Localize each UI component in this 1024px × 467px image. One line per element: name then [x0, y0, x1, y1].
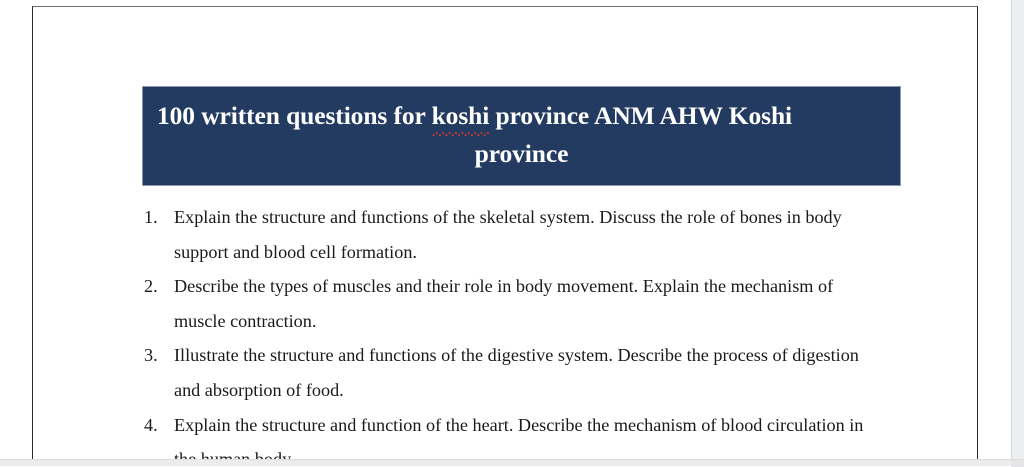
question-list: 1. Explain the structure and functions o…	[144, 200, 904, 459]
list-item-text: Explain the structure and function of th…	[174, 408, 886, 459]
misspelled-word-koshi[interactable]: koshi	[432, 97, 490, 135]
list-item[interactable]: 1. Explain the structure and functions o…	[144, 200, 904, 269]
document-page: 100 written questions for koshi province…	[32, 6, 978, 459]
window-bottom-bar	[0, 459, 1024, 466]
list-item-number: 3.	[144, 338, 174, 373]
list-item-number: 1.	[144, 200, 174, 235]
list-item[interactable]: 2. Describe the types of muscles and the…	[144, 269, 904, 338]
list-item-text: Illustrate the structure and functions o…	[174, 338, 886, 407]
list-item-number: 4.	[144, 408, 174, 443]
list-item[interactable]: 4. Explain the structure and function of…	[144, 408, 904, 459]
title-prefix-text: 100 written questions for	[157, 101, 432, 130]
document-title-line-2: province	[157, 135, 886, 173]
document-title-line-1: 100 written questions for koshi province…	[157, 97, 886, 135]
title-suffix-text: province ANM AHW Koshi	[489, 101, 792, 130]
list-item-text: Describe the types of muscles and their …	[174, 269, 886, 338]
vertical-scrollbar[interactable]	[1011, 0, 1024, 459]
document-title-block: 100 written questions for koshi province…	[142, 86, 901, 186]
list-item-text: Explain the structure and functions of t…	[174, 200, 886, 269]
document-viewport[interactable]: 100 written questions for koshi province…	[0, 0, 1011, 459]
list-item-number: 2.	[144, 269, 174, 304]
list-item[interactable]: 3. Illustrate the structure and function…	[144, 338, 904, 407]
